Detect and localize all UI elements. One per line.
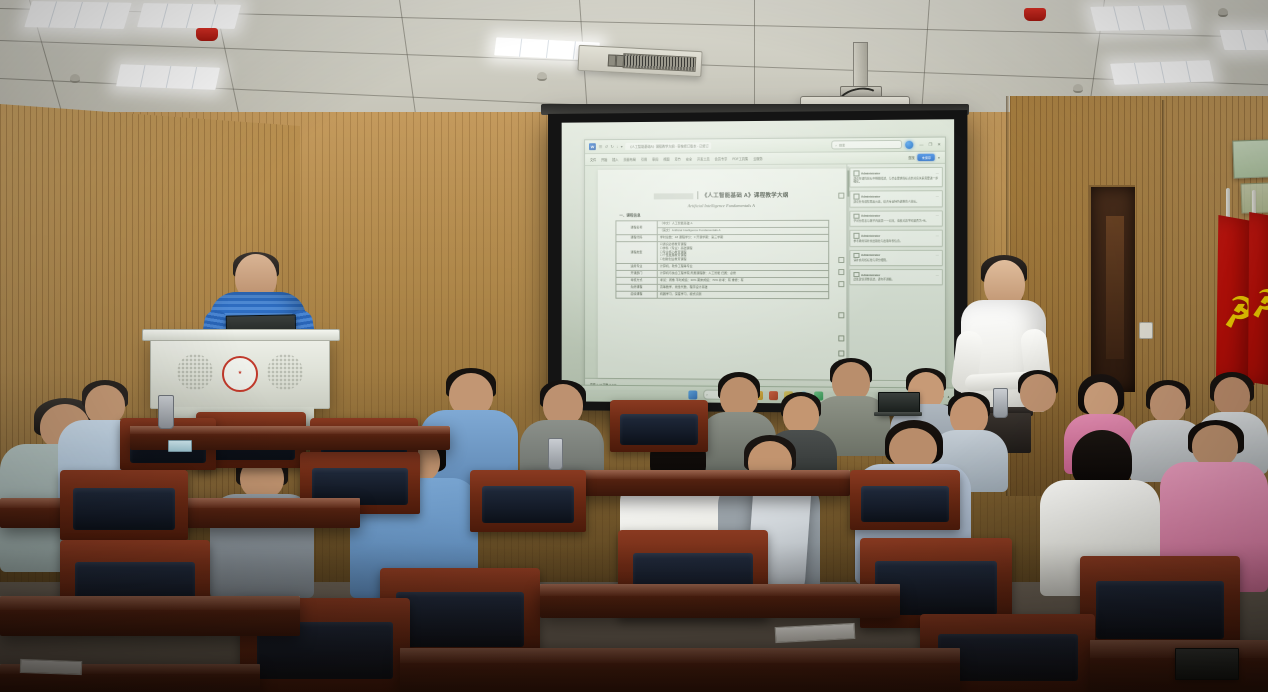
left-gutter <box>585 166 598 378</box>
smoke-detector-icon <box>1024 8 1046 21</box>
redo-icon[interactable]: ↻ <box>610 144 613 149</box>
comment-icon <box>853 272 859 278</box>
comment-card[interactable]: Administrator ⋯ 建议在课程目标中明确描述，与毕业要求指标点的对应… <box>849 167 942 188</box>
audience-chair[interactable] <box>60 470 188 540</box>
comment-card[interactable]: Administrator ⋯ 建议补充课程思政元素，结合专业特色说明育人目标。 <box>849 190 942 207</box>
audience-chair[interactable] <box>1080 556 1240 652</box>
comment-author: Administrator <box>861 171 880 175</box>
comment-more-icon[interactable]: ⋯ <box>936 234 939 238</box>
comment-text: 此处建议调整表述，语句不通顺。 <box>853 279 938 283</box>
tab-home[interactable]: 开始 <box>601 157 607 162</box>
maximize-icon[interactable]: ❐ <box>929 142 933 147</box>
comment-icon <box>853 252 859 258</box>
laptop[interactable] <box>1175 648 1239 680</box>
comment-author: Administrator <box>861 195 880 199</box>
smoke-detector-icon <box>196 28 218 41</box>
communist-party-flag: ☭ <box>1248 212 1268 387</box>
thermos-cup[interactable] <box>158 395 174 429</box>
close-icon[interactable]: ✕ <box>937 142 940 147</box>
tab-member[interactable]: 会员专享 <box>715 156 728 161</box>
ceiling-panel-light <box>1090 5 1192 31</box>
audience-chair[interactable] <box>850 470 960 530</box>
row-label: 考核方式 <box>615 277 657 284</box>
row-label: 课程名称 <box>615 221 657 235</box>
document-page[interactable]: 《人工智能基础 A》课程教学大纲 Artificial Intelligence… <box>598 168 847 379</box>
row-label: 开课部门 <box>615 270 657 277</box>
comment-more-icon[interactable]: ⋯ <box>936 194 939 198</box>
comment-text: 参考教材请补充出版社与出版年份信息。 <box>853 239 938 243</box>
search-input[interactable]: ⌕ 搜索 <box>831 140 902 150</box>
podium-speaker-grille <box>267 354 303 390</box>
quick-access-toolbar[interactable]: ☰ ↺ ↻ ↓ ▾ <box>599 144 623 149</box>
comment-card[interactable]: Administrator ⋯ 参考教材请补充出版社与出版年份信息。 <box>849 230 942 247</box>
ceiling-panel-light <box>116 64 220 89</box>
light-switch[interactable] <box>1139 322 1153 339</box>
comment-author: Administrator <box>861 214 880 218</box>
comment-author: Administrator <box>861 234 880 238</box>
tab-file[interactable]: 文件 <box>590 157 596 162</box>
save-icon[interactable]: ↓ <box>616 144 618 149</box>
tab-review[interactable]: 审阅 <box>652 157 658 162</box>
wps-writer-window[interactable]: W ☰ ↺ ↻ ↓ ▾ 《人工智能基础A》课程教学大纲 - 审核修订版本 - 已… <box>584 137 946 394</box>
tab-insert[interactable]: 插入 <box>612 157 618 162</box>
mobile-phone[interactable] <box>168 440 192 452</box>
ceiling-panel-light <box>24 1 131 29</box>
thermos-cup[interactable] <box>993 388 1008 418</box>
podium-speaker-grille <box>177 354 213 390</box>
comment-card[interactable]: Administrator ⋯ 学时分配表与教学内容需一一对应，请核对总学时是否… <box>849 210 942 227</box>
row-value: ☑通识必修教育课程 ☐学科（专业）基础课程 ☐专业核心教育课程 ☐个性发展教育课… <box>658 241 829 263</box>
document-subtitle: Artificial Intelligence Fundamentals A <box>598 203 847 209</box>
comment-author: Administrator <box>861 253 880 257</box>
laptop-keyboard[interactable] <box>874 412 922 416</box>
menu-icon[interactable]: ☰ <box>599 144 603 149</box>
comment-author: Administrator <box>861 273 880 277</box>
air-conditioner-vent <box>577 45 702 77</box>
sprinkler-head <box>1073 84 1083 93</box>
search-icon: ⌕ <box>835 143 837 147</box>
sprinkler-head <box>1218 8 1228 17</box>
comments-pane[interactable]: Administrator ⋯ 建议在课程目标中明确描述，与毕业要求指标点的对应… <box>846 164 945 381</box>
wall-banner <box>1232 139 1268 178</box>
audience-desk <box>400 648 960 692</box>
audience-chair[interactable] <box>610 400 708 452</box>
comment-more-icon[interactable]: ⋯ <box>936 171 939 175</box>
tab-page-layout[interactable]: 页面布局 <box>623 157 636 162</box>
start-icon[interactable] <box>688 390 697 399</box>
unsaved-button[interactable]: 未保存 <box>918 154 935 161</box>
window-controls[interactable]: — ❐ ✕ <box>916 142 940 147</box>
comment-anchor[interactable] <box>838 312 844 318</box>
comment-anchor[interactable] <box>838 257 844 263</box>
chevron-down-icon[interactable]: ▾ <box>938 155 940 159</box>
projector-mount-pole <box>853 42 868 92</box>
chevron-down-icon[interactable]: ▾ <box>621 144 623 149</box>
comment-more-icon[interactable]: ⋯ <box>936 273 939 277</box>
comment-text: 建议在课程目标中明确描述，与毕业要求指标点的对应关系需要进一步细化。 <box>853 177 938 185</box>
comment-anchor[interactable] <box>838 350 844 356</box>
section-heading: 一、课程信息 <box>619 213 846 219</box>
tab-cloud[interactable]: 云服务 <box>753 156 763 161</box>
row-label: 课程类型 <box>615 242 657 264</box>
classroom-scene: ☭ ☭ W ☰ ↺ ↻ ↓ ▾ <box>0 0 1268 692</box>
doorway[interactable] <box>1088 185 1135 392</box>
row-label: 适用专业 <box>615 263 657 270</box>
audience-desk <box>0 596 300 636</box>
ceiling-panel-light <box>1110 60 1214 84</box>
comment-card[interactable]: Administrator ⋯ 此处建议调整表述，语句不通顺。 <box>849 269 942 286</box>
comment-anchor[interactable] <box>838 335 844 341</box>
paper-handout[interactable] <box>20 659 82 675</box>
tab-dev-tools[interactable]: 开发工具 <box>697 156 710 161</box>
comment-icon <box>853 170 859 176</box>
tab-view[interactable]: 视图 <box>663 157 669 162</box>
ceiling-panel-light <box>1220 30 1268 50</box>
document-scrollbar[interactable] <box>847 166 849 377</box>
undo-icon[interactable]: ↺ <box>605 144 608 149</box>
row-value: 机器学习、深度学习、模式识别 <box>658 291 829 298</box>
user-avatar[interactable] <box>905 140 913 148</box>
table-row: 后续课程 机器学习、深度学习、模式识别 <box>615 291 828 298</box>
wps-logo-icon: W <box>589 143 596 150</box>
search-placeholder: 搜索 <box>839 143 845 147</box>
comment-text: 学时分配表与教学内容需一一对应，请核对总学时是否为 48。 <box>853 220 938 224</box>
comment-anchor[interactable] <box>838 193 844 199</box>
sprinkler-head <box>537 72 547 81</box>
paper-handout[interactable] <box>775 623 856 643</box>
tab-pdf-tools[interactable]: PDF工具集 <box>732 156 748 161</box>
table-row: 课程类型 ☑通识必修教育课程 ☐学科（专业）基础课程 ☐专业核心教育课程 ☐个性… <box>615 241 828 263</box>
scrollbar-thumb[interactable] <box>847 170 849 196</box>
sprinkler-head <box>70 74 80 83</box>
tab-security[interactable]: 安全 <box>686 156 692 161</box>
comment-card[interactable]: Administrator ⋯ 请补充考核标准与评分细则。 <box>849 249 942 266</box>
hammer-sickle-emblem: ☭ <box>1248 284 1268 323</box>
tab-references[interactable]: 引用 <box>641 157 647 162</box>
lectern-podium: ★ <box>150 335 330 409</box>
comment-text: 建议补充课程思政元素，结合专业特色说明育人目标。 <box>853 200 938 204</box>
document-title-row: 《人工智能基础 A》课程教学大纲 <box>598 191 847 200</box>
row-label: 后续课程 <box>615 291 657 298</box>
podium-top-surface <box>142 329 340 341</box>
thermos-cup[interactable] <box>548 438 563 470</box>
find-label[interactable]: 查找 <box>908 155 914 160</box>
redacted-block <box>654 193 694 199</box>
page-title: 《人工智能基础 A》课程教学大纲 <box>698 191 789 199</box>
ceiling-panel-light <box>137 3 241 29</box>
comment-icon <box>853 194 859 200</box>
audience-chair[interactable] <box>470 470 586 532</box>
document-tab[interactable]: 《人工智能基础A》课程教学大纲 - 审核修订版本 - 已修订 <box>626 142 712 150</box>
comment-more-icon[interactable]: ⋯ <box>936 253 939 257</box>
university-emblem: ★ <box>222 356 258 392</box>
comment-icon <box>853 213 859 219</box>
comment-icon <box>853 233 859 239</box>
row-label: 课程代码 <box>615 235 657 242</box>
tab-section[interactable]: 章节 <box>675 156 681 161</box>
comment-text: 请补充考核标准与评分细则。 <box>853 259 938 263</box>
comment-anchor[interactable] <box>838 281 844 287</box>
comment-anchor[interactable] <box>838 269 844 275</box>
course-info-table: 课程名称 （中文）人工智能基础 A （英文）Artificial Intelli… <box>615 220 829 299</box>
audience-desk <box>540 584 900 618</box>
document-workspace: 《人工智能基础 A》课程教学大纲 Artificial Intelligence… <box>585 164 945 381</box>
minimize-icon[interactable]: — <box>919 142 923 147</box>
comment-more-icon[interactable]: ⋯ <box>936 214 939 218</box>
